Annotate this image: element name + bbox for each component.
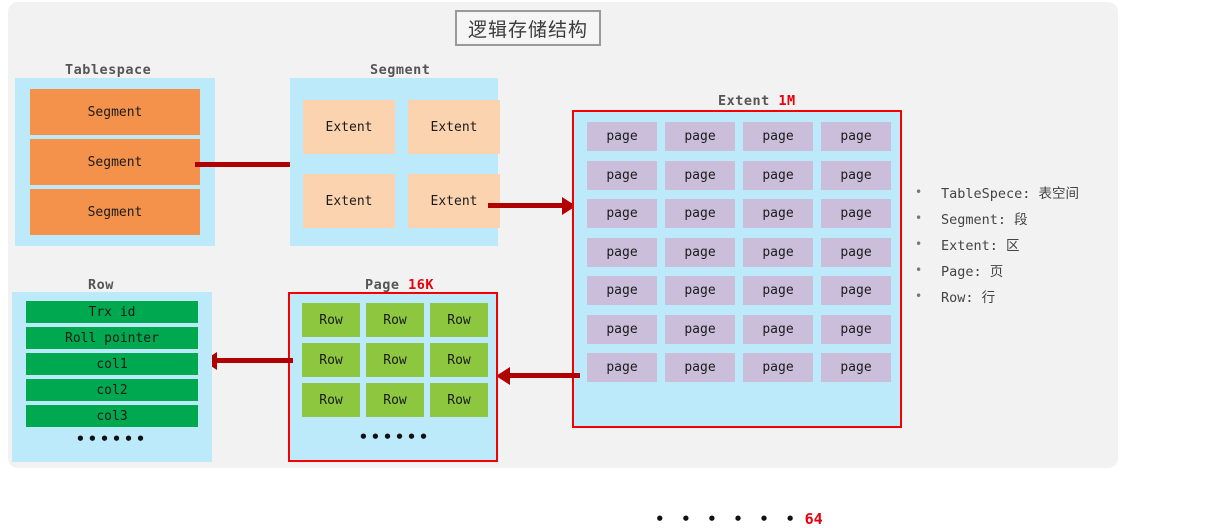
page-chip[interactable]: page: [587, 353, 657, 382]
arrow-page-to-row: [215, 358, 293, 363]
segment-box: Extent Extent Extent Extent: [290, 78, 498, 246]
arrow-head-left-icon: [496, 367, 510, 385]
page-chip[interactable]: page: [665, 161, 735, 190]
page-chip[interactable]: page: [587, 238, 657, 267]
extent-chip[interactable]: Extent: [408, 100, 500, 154]
bullet-icon: •: [915, 237, 941, 251]
page-chip[interactable]: page: [743, 276, 813, 305]
extent-chip[interactable]: Extent: [303, 174, 395, 228]
page-box: RowRowRowRowRowRowRowRowRow ••••••: [288, 292, 498, 462]
extent-box: pagepagepagepagepagepagepagepagepagepage…: [572, 110, 902, 428]
page-chip[interactable]: page: [665, 122, 735, 151]
page-chip[interactable]: page: [821, 161, 891, 190]
page-chip[interactable]: page: [587, 276, 657, 305]
page-chip[interactable]: page: [821, 353, 891, 382]
page-chip[interactable]: page: [665, 238, 735, 267]
extent-dots-text: • • • • • •: [655, 510, 798, 528]
arrow-tablespace-to-segment: [195, 162, 295, 167]
legend-item-label: Segment: 段: [941, 208, 1028, 228]
page-chip[interactable]: page: [665, 353, 735, 382]
row-chip[interactable]: Row: [302, 343, 360, 377]
legend-item-label: Extent: 区: [941, 234, 1020, 254]
legend-item-label: TableSpece: 表空间: [941, 182, 1079, 202]
legend-item: •Page: 页: [915, 260, 1079, 280]
page-chip[interactable]: page: [587, 315, 657, 344]
page-size-label: 16K: [408, 277, 434, 293]
row-field-chip[interactable]: col1: [26, 353, 198, 375]
segment-chip[interactable]: Segment: [30, 189, 200, 235]
legend-item: •TableSpece: 表空间: [915, 182, 1079, 202]
extent-count: 64: [805, 510, 823, 528]
page-title: 逻辑存储结构: [468, 15, 588, 42]
page-footer-dots: ••••••: [290, 428, 500, 446]
bullet-icon: •: [915, 289, 941, 303]
legend-item: •Segment: 段: [915, 208, 1079, 228]
row-chip[interactable]: Row: [302, 383, 360, 417]
legend-item: •Row: 行: [915, 286, 1079, 306]
row-field-chip[interactable]: col3: [26, 405, 198, 427]
row-caption: Row: [88, 277, 114, 293]
extent-chip[interactable]: Extent: [408, 174, 500, 228]
page-chip[interactable]: page: [821, 238, 891, 267]
row-chip[interactable]: Row: [430, 343, 488, 377]
page-chip[interactable]: page: [743, 315, 813, 344]
page-chip[interactable]: page: [821, 276, 891, 305]
segment-chip[interactable]: Segment: [30, 139, 200, 185]
extent-caption-label: Extent: [718, 93, 770, 109]
bullet-icon: •: [915, 211, 941, 225]
row-box: Trx idRoll pointercol1col2col3 ••••••: [12, 292, 212, 462]
page-chip[interactable]: page: [743, 122, 813, 151]
row-field-chip[interactable]: col2: [26, 379, 198, 401]
diagram-title-box: 逻辑存储结构: [455, 10, 601, 46]
page-chip[interactable]: page: [743, 161, 813, 190]
page-chip[interactable]: page: [821, 199, 891, 228]
row-chip[interactable]: Row: [430, 303, 488, 337]
page-chip[interactable]: page: [743, 353, 813, 382]
page-caption: Page 16K: [365, 277, 434, 293]
row-chip[interactable]: Row: [366, 303, 424, 337]
row-chip[interactable]: Row: [302, 303, 360, 337]
page-chip[interactable]: page: [587, 161, 657, 190]
page-chip[interactable]: page: [665, 276, 735, 305]
tablespace-box: Segment Segment Segment: [15, 78, 215, 246]
page-chip[interactable]: page: [587, 122, 657, 151]
segment-caption: Segment: [370, 62, 430, 78]
tablespace-caption: Tablespace: [65, 62, 151, 78]
segment-chip[interactable]: Segment: [30, 89, 200, 135]
row-chip[interactable]: Row: [366, 343, 424, 377]
row-footer-dots: ••••••: [12, 430, 212, 448]
page-chip[interactable]: page: [743, 199, 813, 228]
page-chip[interactable]: page: [665, 199, 735, 228]
bullet-icon: •: [915, 263, 941, 277]
extent-size-label: 1M: [778, 93, 795, 109]
row-chip[interactable]: Row: [430, 383, 488, 417]
row-field-chip[interactable]: Roll pointer: [26, 327, 198, 349]
legend-item-label: Row: 行: [941, 286, 995, 306]
page-chip[interactable]: page: [821, 315, 891, 344]
extent-footer-dots: • • • • • •64: [574, 510, 904, 528]
legend-item-label: Page: 页: [941, 260, 1003, 280]
arrow-extent-to-page: [508, 373, 580, 378]
bullet-icon: •: [915, 185, 941, 199]
page-caption-label: Page: [365, 277, 400, 293]
legend-item: •Extent: 区: [915, 234, 1079, 254]
page-chip[interactable]: page: [821, 122, 891, 151]
row-field-chip[interactable]: Trx id: [26, 301, 198, 323]
extent-caption: Extent 1M: [718, 93, 796, 109]
page-chip[interactable]: page: [665, 315, 735, 344]
extent-chip[interactable]: Extent: [303, 100, 395, 154]
page-chip[interactable]: page: [743, 238, 813, 267]
row-chip[interactable]: Row: [366, 383, 424, 417]
page-chip[interactable]: page: [587, 199, 657, 228]
legend: •TableSpece: 表空间•Segment: 段•Extent: 区•Pa…: [915, 182, 1079, 312]
diagram-canvas: 逻辑存储结构 Tablespace Segment Segment Segmen…: [0, 0, 1227, 472]
